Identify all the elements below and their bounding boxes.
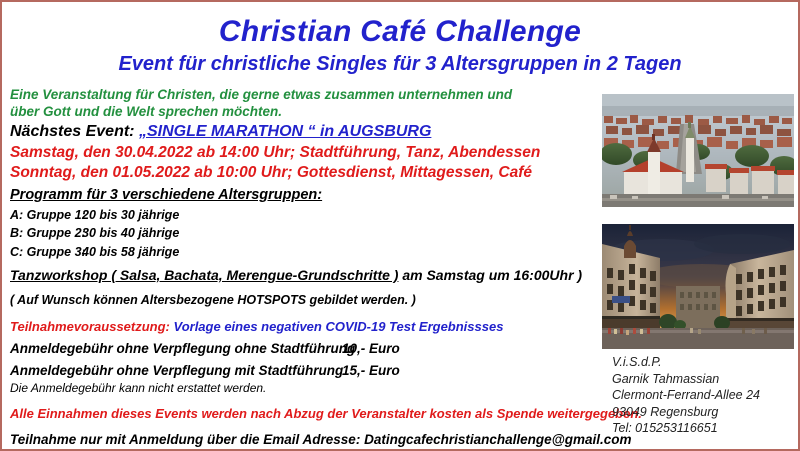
covid-value: Vorlage eines negativen COVID-19 Test Er… — [170, 319, 504, 334]
date-line-sunday: Sonntag, den 01.05.2022 ab 10:00 Uhr; Go… — [10, 163, 600, 182]
covid-requirement-line: Teilnahmevoraussetzung: Vorlage eines ne… — [10, 319, 600, 335]
group-label-2: B: Gruppe 2: — [10, 226, 82, 241]
group-label-3: C: Gruppe 3: — [10, 245, 82, 260]
registration-email-line: Teilnahme nur mit Anmeldung über die Ema… — [10, 432, 600, 449]
next-event-value: „SINGLE MARATHON “ in AUGSBURG — [139, 123, 431, 140]
group-label-1: A: Gruppe 1: — [10, 208, 82, 223]
fee-label-2: Anmeldegebühr ohne Verpflegung mit Stadt… — [10, 363, 342, 380]
group-range-1: 20 bis 30 jährige — [82, 208, 179, 223]
aerial-cityscape-photo — [602, 94, 794, 207]
imprint-line-phone: Tel: 015253116651 — [612, 420, 760, 437]
imprint-block: V.i.S.d.P. Garnik Tahmassian Clermont-Fe… — [612, 354, 760, 437]
group-row-3: C: Gruppe 3: 40 bis 58 jährige — [10, 245, 600, 260]
group-row-2: B: Gruppe 2: 30 bis 40 jährige — [10, 226, 600, 241]
workshop-rest-part: am Samstag um 16:00Uhr ) — [398, 267, 582, 283]
date-line-saturday: Samstag, den 30.04.2022 ab 14:00 Uhr; St… — [10, 143, 600, 162]
group-range-2: 30 bis 40 jährige — [82, 226, 179, 241]
imprint-line-name: Garnik Tahmassian — [612, 371, 760, 388]
imprint-line-city: 93049 Regensburg — [612, 404, 760, 421]
workshop-line: Tanzworkshop ( Salsa, Bachata, Merengue-… — [10, 267, 600, 284]
historic-street-photo — [602, 224, 794, 349]
covid-label: Teilnahmevoraussetzung: — [10, 319, 170, 334]
fee-row-2: Anmeldegebühr ohne Verpflegung mit Stadt… — [10, 363, 600, 380]
fee-price-2: 15,- Euro — [342, 363, 400, 380]
donation-note: Alle Einnahmen dieses Events werden nach… — [10, 406, 600, 422]
page-subtitle: Event für christliche Singles für 3 Alte… — [2, 53, 798, 75]
fee-note: Die Anmeldegebühr kann nicht erstattet w… — [10, 381, 600, 396]
fee-label-1: Anmeldegebühr ohne Verpflegung ohne Stad… — [10, 341, 342, 358]
workshop-underlined-part: Tanzworkshop ( Salsa, Bachata, Merengue-… — [10, 267, 398, 283]
intro-line-1: Eine Veranstaltung für Christen, die ger… — [10, 87, 600, 104]
next-event-line: Nächstes Event: „SINGLE MARATHON “ in AU… — [10, 122, 600, 142]
imprint-line-street: Clermont-Ferrand-Allee 24 — [612, 387, 760, 404]
next-event-label: Nächstes Event: — [10, 123, 135, 140]
title-block: Christian Café Challenge Event für chris… — [2, 2, 798, 75]
hotspots-note: ( Auf Wunsch können Altersbezogene HOTSP… — [10, 293, 600, 308]
group-range-3: 40 bis 58 jährige — [82, 245, 179, 260]
program-heading: Programm für 3 verschiedene Altersgruppe… — [10, 187, 600, 205]
fee-price-1: 10,- Euro — [342, 341, 400, 358]
fee-row-1: Anmeldegebühr ohne Verpflegung ohne Stad… — [10, 341, 600, 358]
page-title: Christian Café Challenge — [2, 16, 798, 48]
intro-line-2: über Gott und die Welt sprechen möchten. — [10, 104, 600, 121]
poster: Christian Café Challenge Event für chris… — [0, 0, 800, 451]
group-row-1: A: Gruppe 1: 20 bis 30 jährige — [10, 208, 600, 223]
content-column: Eine Veranstaltung für Christen, die ger… — [10, 87, 600, 451]
imprint-line-visdp: V.i.S.d.P. — [612, 354, 760, 371]
